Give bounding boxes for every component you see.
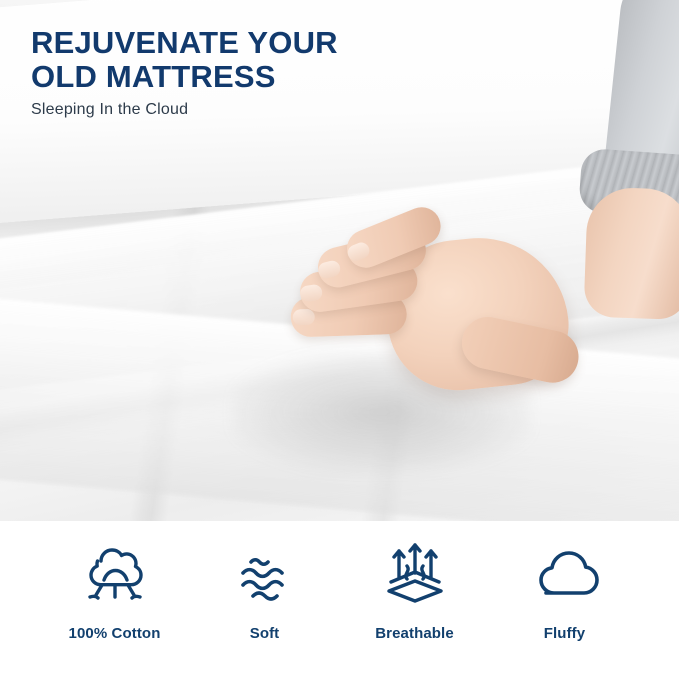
finger-ring xyxy=(298,258,420,314)
finger-pinky xyxy=(290,294,407,338)
feature-label: Breathable xyxy=(375,625,454,642)
product-infographic: REJUVENATE YOUR OLD MATTRESS Sleeping In… xyxy=(0,0,679,679)
feature-label: 100% Cotton xyxy=(69,625,161,642)
cloud-icon xyxy=(524,537,606,611)
palm xyxy=(380,229,575,397)
sleeve-cuff xyxy=(578,148,679,221)
thumb xyxy=(457,312,583,387)
fingernail xyxy=(299,284,323,303)
forearm xyxy=(583,186,679,320)
feature-row: 100% Cotton Soft xyxy=(0,521,679,679)
finger-middle xyxy=(314,226,430,291)
feature-item-soft: Soft xyxy=(190,521,340,642)
arm xyxy=(451,0,679,314)
breathable-arrows-icon xyxy=(374,537,456,611)
hand xyxy=(319,199,601,445)
finger-index xyxy=(341,201,446,273)
feature-label: Soft xyxy=(250,625,280,642)
feature-label: Fluffy xyxy=(544,625,585,642)
fingernail xyxy=(345,240,371,263)
soft-waves-icon xyxy=(224,537,306,611)
fingernail xyxy=(292,309,315,326)
feature-item-breathable: Breathable xyxy=(340,521,490,642)
mattress-fold-upper xyxy=(0,147,679,396)
sleeve xyxy=(601,0,679,211)
hand-press-shadow xyxy=(232,352,532,472)
cotton-boll-icon xyxy=(74,537,156,611)
page-subtitle: Sleeping In the Cloud xyxy=(31,101,188,119)
page-title: REJUVENATE YOUR OLD MATTRESS xyxy=(31,26,338,94)
feature-item-fluffy: Fluffy xyxy=(490,521,640,642)
mattress-fold-lower xyxy=(0,293,679,521)
fingernail xyxy=(317,259,342,280)
feature-item-cotton: 100% Cotton xyxy=(40,521,190,642)
mattress-photo: REJUVENATE YOUR OLD MATTRESS Sleeping In… xyxy=(0,0,679,521)
